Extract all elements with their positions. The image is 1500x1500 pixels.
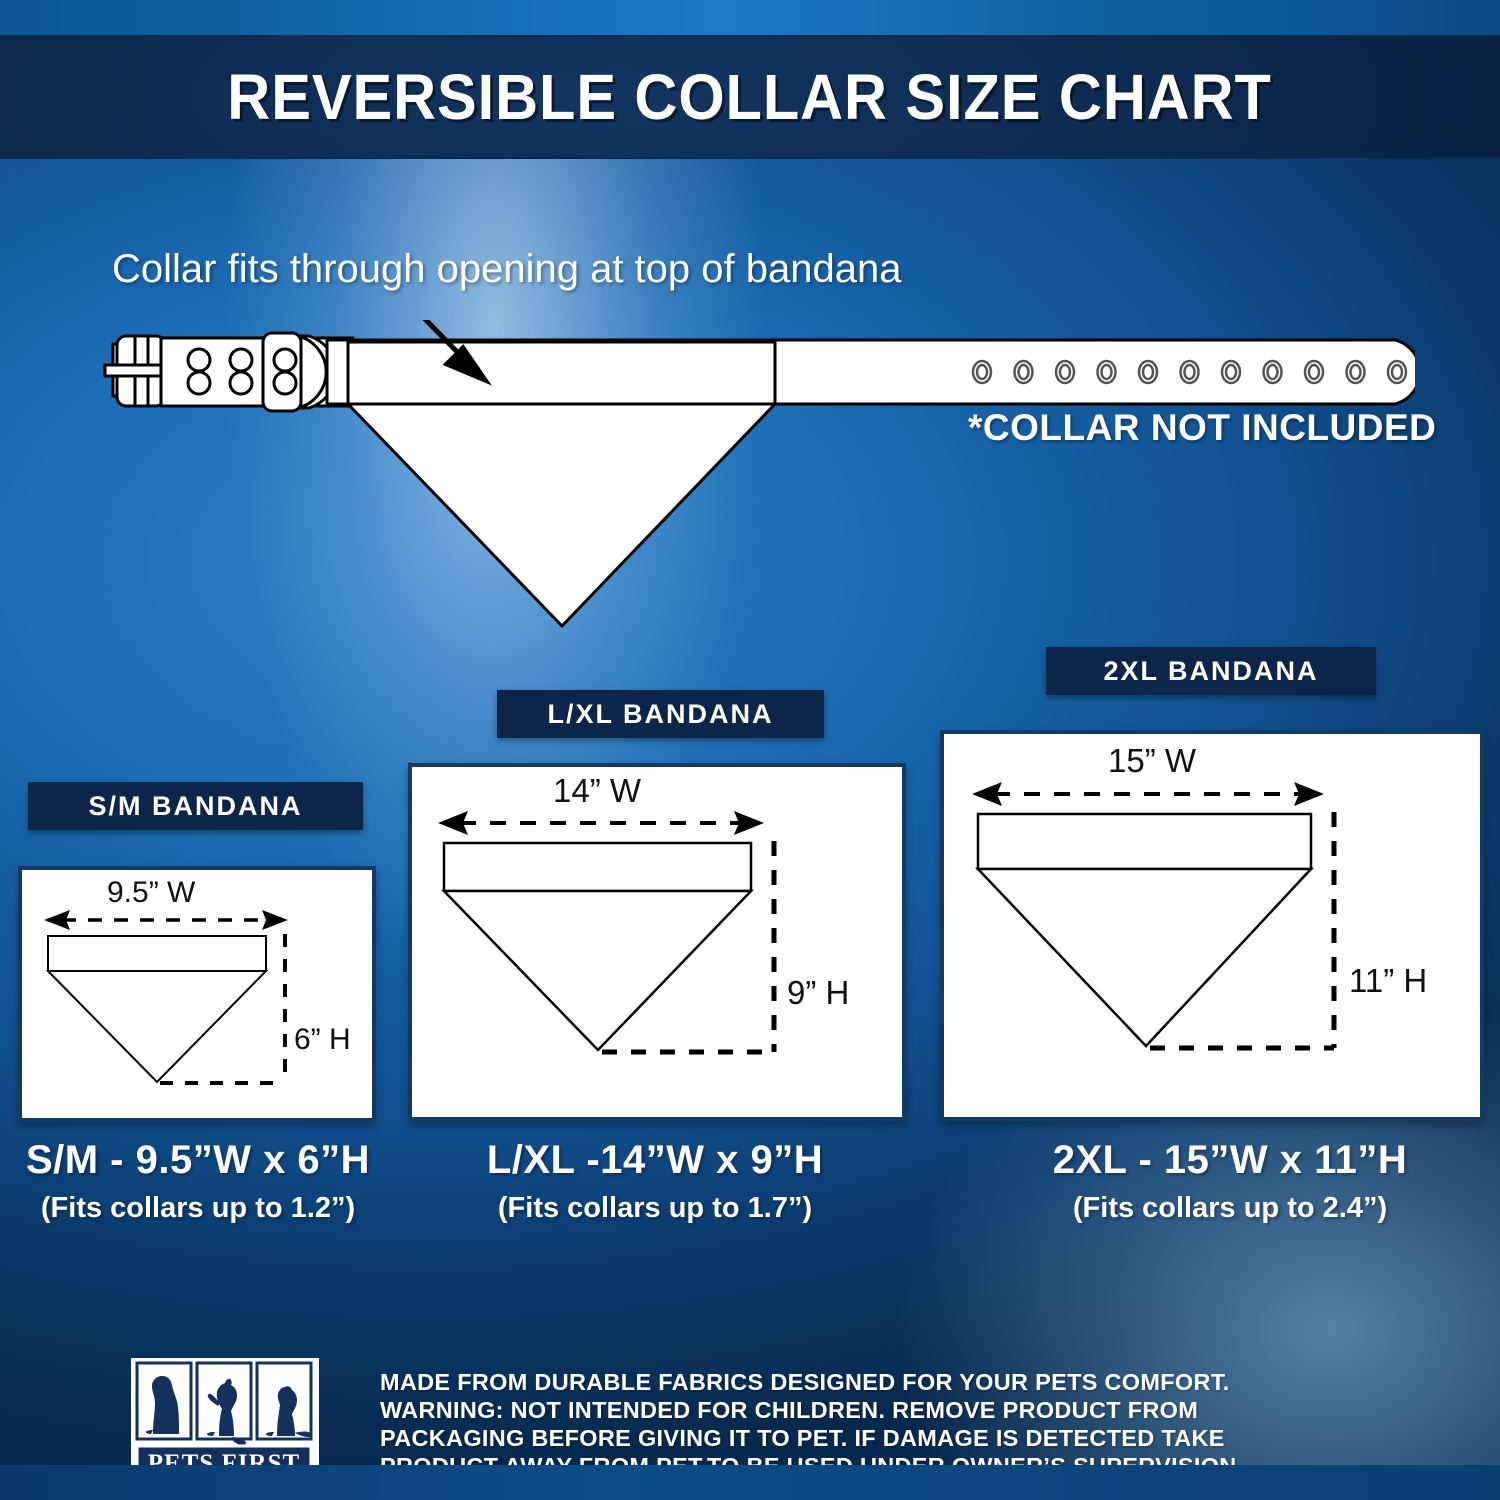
sm-bandana-diagram: 9.5” W 6” H: [18, 866, 376, 1122]
sm-sleeve: [48, 936, 266, 971]
xxl-height-label: 11” H: [1349, 962, 1427, 1000]
lxl-caption-main: L/XL -14”W x 9”H: [455, 1138, 855, 1183]
footer-warning-text: MADE FROM DURABLE FABRICS DESIGNED FOR Y…: [380, 1368, 1390, 1480]
footer-line-3: PACKAGING BEFORE GIVING IT TO PET. IF DA…: [380, 1424, 1390, 1452]
bottom-accent-strip: [0, 1465, 1500, 1500]
xxl-diagram-svg: [944, 734, 1472, 1109]
bandana-triangle: [348, 404, 775, 626]
lxl-height-label: 9” H: [787, 974, 849, 1012]
sm-triangle: [48, 971, 266, 1082]
xxl-caption-sub: (Fits collars up to 2.4”): [1020, 1192, 1440, 1225]
xxl-sleeve: [978, 814, 1311, 869]
xxl-caption: 2XL - 15”W x 11”H (Fits collars up to 2.…: [1020, 1138, 1440, 1225]
sm-caption-main: S/M - 9.5”W x 6”H: [8, 1138, 388, 1183]
sm-width-label: 9.5” W: [107, 876, 195, 910]
lxl-caption: L/XL -14”W x 9”H (Fits collars up to 1.7…: [455, 1138, 855, 1225]
collar-opening-note: Collar fits through opening at top of ba…: [112, 247, 901, 292]
xxl-triangle: [978, 869, 1311, 1046]
lxl-bandana-label: L/XL BANDANA: [497, 690, 824, 738]
sm-height-label: 6” H: [294, 1023, 351, 1057]
footer-line-2: WARNING: NOT INTENDED FOR CHILDREN. REMO…: [380, 1396, 1390, 1424]
sm-width-arrow-right: [262, 910, 288, 930]
xxl-width-label: 15” W: [1108, 742, 1196, 780]
xxl-bandana-label: 2XL BANDANA: [1046, 647, 1376, 695]
collar-bandana-illustration: [95, 320, 1415, 640]
sm-caption-sub: (Fits collars up to 1.2”): [8, 1192, 388, 1225]
sm-caption: S/M - 9.5”W x 6”H (Fits collars up to 1.…: [8, 1138, 388, 1225]
bandana-graphic: [348, 342, 775, 626]
sm-bandana-label: S/M BANDANA: [28, 782, 363, 830]
lxl-caption-sub: (Fits collars up to 1.7”): [455, 1192, 855, 1225]
page-title: REVERSIBLE COLLAR SIZE CHART: [228, 60, 1273, 134]
header-band: REVERSIBLE COLLAR SIZE CHART: [0, 35, 1500, 159]
lxl-width-label: 14” W: [553, 772, 641, 810]
lxl-triangle: [444, 891, 751, 1050]
xxl-caption-main: 2XL - 15”W x 11”H: [1020, 1138, 1440, 1183]
top-accent-strip: [0, 0, 1500, 35]
xxl-bandana-diagram: 15” W 11” H: [940, 730, 1484, 1121]
bandana-sleeve: [348, 342, 775, 404]
footer-line-1: MADE FROM DURABLE FABRICS DESIGNED FOR Y…: [380, 1368, 1390, 1396]
lxl-diagram-svg: [412, 767, 894, 1109]
size-chart-page: REVERSIBLE COLLAR SIZE CHART Collar fits…: [0, 0, 1500, 1500]
lxl-sleeve: [444, 843, 751, 891]
lxl-bandana-diagram: 14” W 9” H: [408, 763, 906, 1121]
